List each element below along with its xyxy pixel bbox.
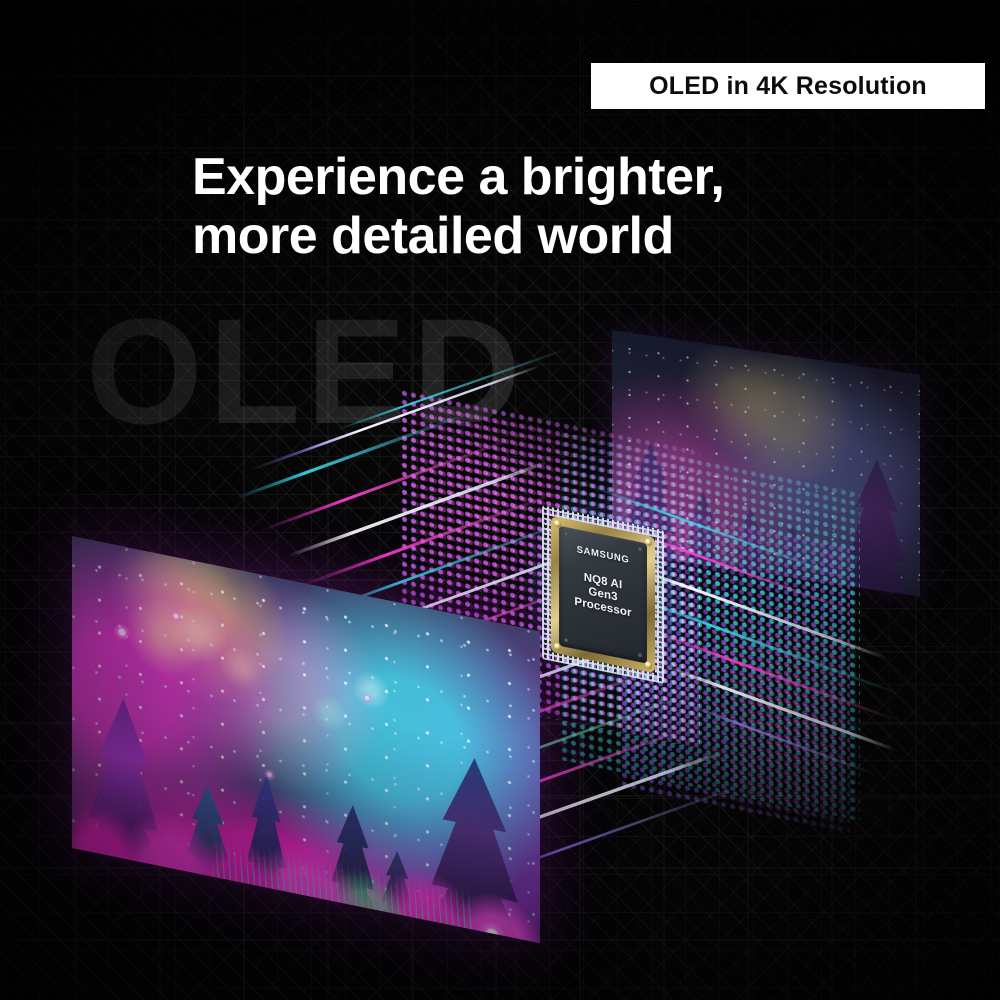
headline-line-2: more detailed world (192, 207, 872, 266)
resolution-badge-label: OLED in 4K Resolution (649, 72, 927, 101)
resolution-badge: OLED in 4K Resolution (591, 63, 985, 109)
chip-brand-label: SAMSUNG (559, 542, 647, 571)
chip-model-label: NQ8 AI Gen3 Processor (559, 567, 647, 624)
advertisement-canvas: OLED (0, 0, 1000, 1000)
nq8-ai-gen3-processor-chip: SAMSUNG NQ8 AI Gen3 Processor (551, 516, 655, 673)
page-title: Experience a brighter, more detailed wor… (192, 148, 872, 267)
chip-gold-frame: SAMSUNG NQ8 AI Gen3 Processor (551, 516, 655, 673)
headline-line-1: Experience a brighter, (192, 148, 724, 206)
chip-die: SAMSUNG NQ8 AI Gen3 Processor (559, 526, 647, 664)
